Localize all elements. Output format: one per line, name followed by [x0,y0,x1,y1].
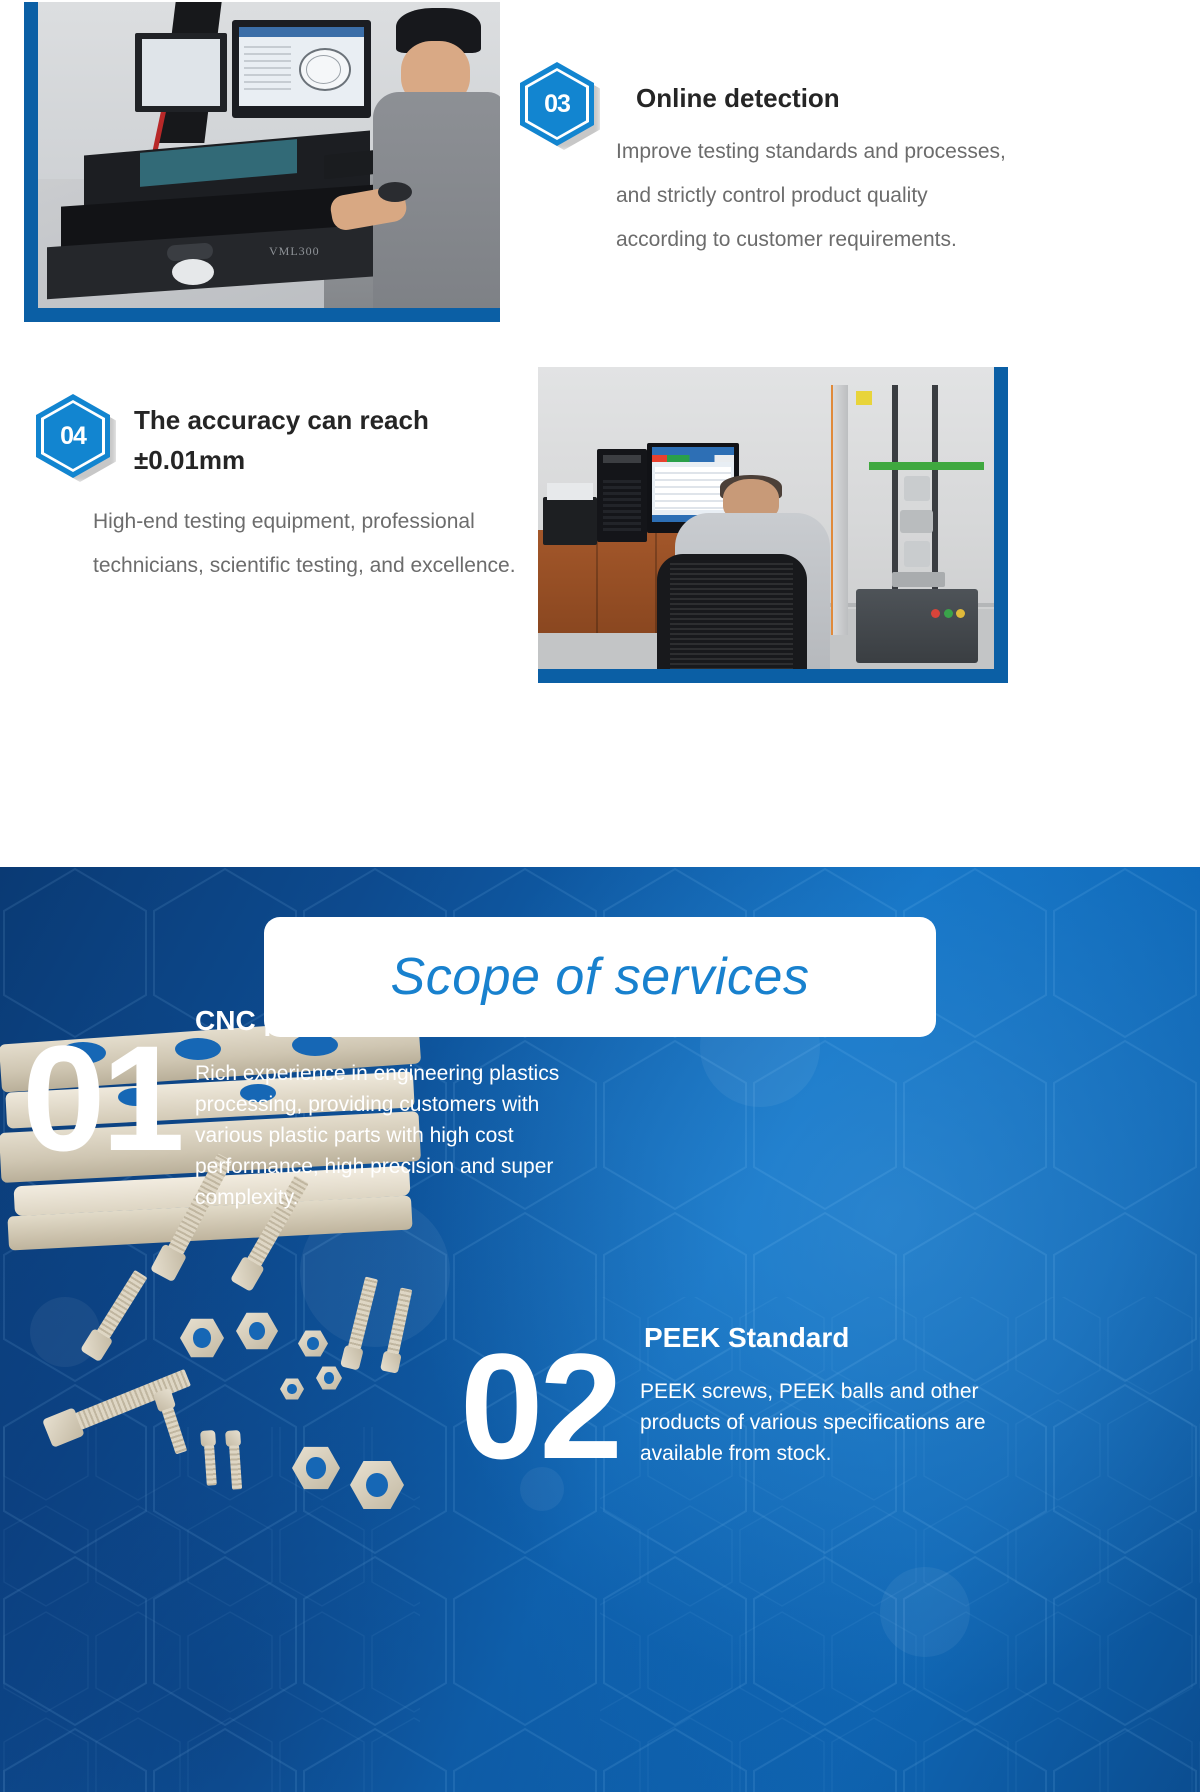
features-section: VML300 03 Online detection Improve testi… [0,0,1200,867]
feature-body-online-detection: Improve testing standards and processes,… [616,130,1006,262]
feature-badge-04: 04 [36,394,114,482]
image-accent-bar-bottom [538,669,1008,683]
service-body-peek-standard: PEEK screws, PEEK balls and other produc… [640,1376,1040,1469]
scope-heading: Scope of services [391,947,810,1007]
feature-title-accuracy: The accuracy can reach ±0.01mm [134,400,514,480]
service-body-cnc-processing: Rich experience in engineering plastics … [195,1058,605,1213]
machine-model-label: VML300 [269,244,320,259]
scope-title-card: Scope of services [264,917,936,1037]
image-accent-bar-bottom [24,308,500,322]
service-title-peek-standard: PEEK Standard [644,1322,1064,1354]
image-peek-screws-and-nuts [40,1270,460,1550]
feature-image-online-detection: VML300 [24,2,500,322]
feature-image-accuracy [538,367,1008,683]
feature-title-online-detection: Online detection [636,78,996,118]
feature-badge-number: 03 [544,90,570,119]
feature-badge-03: 03 [520,62,598,150]
service-number-01: 01 [22,1012,181,1185]
feature-body-accuracy: High-end testing equipment, professional… [93,500,523,588]
image-accent-bar-left [24,2,38,322]
service-number-02: 02 [460,1320,619,1493]
feature-badge-number: 04 [60,422,86,451]
photo-tensile-testing-lab [538,367,994,669]
image-accent-bar-right [994,367,1008,683]
photo-optical-measuring-machine: VML300 [38,2,500,308]
